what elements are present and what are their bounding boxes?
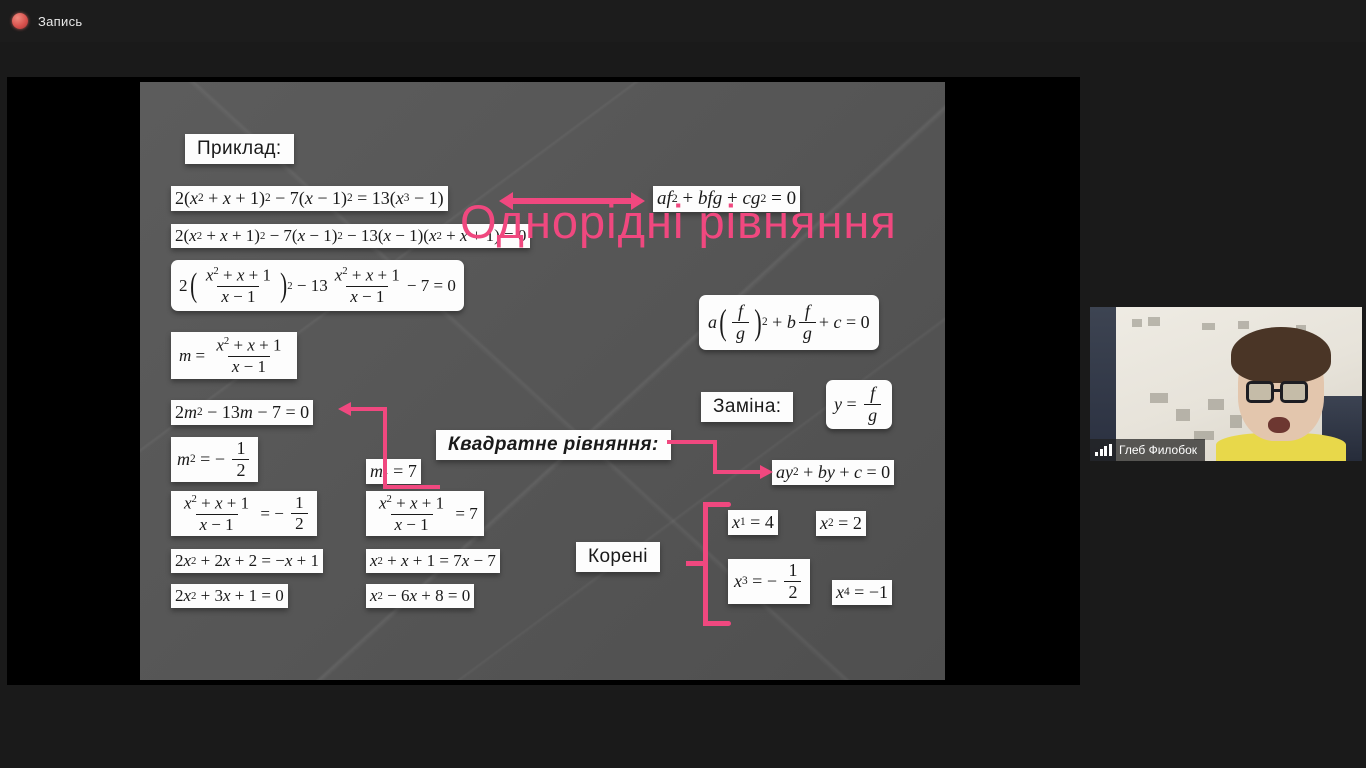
- branch-right-step-3: x2 − 6x + 8 = 0: [366, 584, 474, 608]
- roots-brace-middle: [686, 561, 708, 566]
- recording-label: Запись: [38, 14, 82, 29]
- equation-step-3: 2( x2 + x + 1 x − 1 )2 − 13 x2 + x + 1 x…: [171, 260, 464, 311]
- elbow-arrow-right-head: [760, 465, 773, 479]
- roots-brace-top: [703, 502, 731, 507]
- participant-name: Глеб Филобок: [1119, 443, 1197, 457]
- root-x4: x4 = −1: [832, 580, 892, 605]
- wall-doodle: [1132, 319, 1142, 327]
- meeting-window: Запись Однорідні рівняння Приклад: 2(x2 …: [0, 0, 1366, 768]
- double-arrow-left-head: [499, 192, 513, 210]
- roots-brace-bottom: [703, 621, 731, 626]
- recording-bar: Запись: [0, 0, 1366, 42]
- root-x3: x3 = − 12: [728, 559, 810, 604]
- person-hair: [1231, 327, 1331, 383]
- double-arrow-right-head: [631, 192, 645, 210]
- signal-bars-icon: [1095, 444, 1113, 456]
- root-x1: x1 = 4: [728, 510, 778, 535]
- video-left-edge: [1090, 307, 1116, 461]
- wall-doodle: [1150, 393, 1168, 403]
- glasses-bridge: [1274, 389, 1281, 392]
- branch-right-step-2: x2 + x + 1 = 7x − 7: [366, 549, 500, 573]
- general-form-4: ay2 + by + c = 0: [772, 460, 894, 485]
- wall-doodle: [1148, 317, 1160, 326]
- elbow-arrow-left-lower: [383, 485, 440, 489]
- participant-name-bar: Глеб Филобок: [1090, 439, 1205, 461]
- elbow-arrow-left-head: [338, 402, 351, 416]
- substitution-label: Заміна:: [701, 392, 793, 422]
- wall-doodle: [1202, 323, 1215, 330]
- branch-left-step-1: x2 + x + 1 x − 1 = − 12: [171, 491, 317, 536]
- elbow-arrow-left-upper: [350, 407, 387, 411]
- roots-label: Корені: [576, 542, 660, 572]
- elbow-arrow-left-stem: [383, 407, 387, 455]
- general-form-2: a( fg )2 + b fg + c = 0: [699, 295, 879, 350]
- general-form-3: y = fg: [826, 380, 892, 429]
- branch-left-step-2: 2x2 + 2x + 2 = −x + 1: [171, 549, 323, 573]
- example-label: Приклад:: [185, 134, 294, 164]
- presentation-slide[interactable]: Однорідні рівняння Приклад: 2(x2 + x + 1…: [140, 82, 945, 680]
- wall-doodle: [1238, 321, 1249, 329]
- substitution-m: m = x2 + x + 1 x − 1: [171, 332, 297, 379]
- glasses-right-lens: [1280, 381, 1308, 403]
- elbow-arrow-right-vertical: [713, 440, 717, 474]
- shared-screen-stage[interactable]: Однорідні рівняння Приклад: 2(x2 + x + 1…: [7, 77, 1080, 685]
- wall-doodle: [1230, 415, 1242, 428]
- record-dot-icon: [12, 13, 28, 29]
- quadratic-in-m: 2m2 − 13m − 7 = 0: [171, 400, 313, 425]
- root-x2: x2 = 2: [816, 511, 866, 536]
- branch-left-step-3: 2x2 + 3x + 1 = 0: [171, 584, 288, 608]
- root-m2: m2 = − 12: [171, 437, 258, 482]
- person-mouth: [1268, 417, 1290, 433]
- quadratic-equation-label: Квадратне рівняння:: [436, 430, 671, 460]
- wall-doodle: [1176, 409, 1190, 421]
- branch-right-step-1: x2 + x + 1 x − 1 = 7: [366, 491, 484, 536]
- root-m1: m1 = 7: [366, 459, 421, 484]
- elbow-arrow-right-upper: [667, 440, 717, 444]
- double-arrow-shaft: [511, 198, 633, 204]
- elbow-arrow-left-vertical: [383, 453, 387, 489]
- participant-video-tile[interactable]: Глеб Филобок: [1090, 307, 1362, 461]
- elbow-arrow-right-lower: [713, 470, 763, 474]
- glasses-left-lens: [1246, 381, 1274, 403]
- equation-step-1: 2(x2 + x + 1)2 − 7(x − 1)2 = 13(x3 − 1): [171, 186, 448, 211]
- wall-doodle: [1208, 399, 1224, 410]
